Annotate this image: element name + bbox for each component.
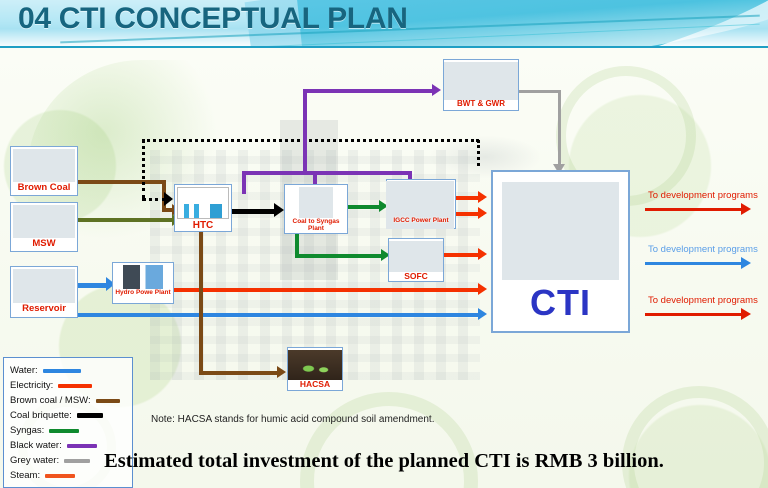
output-line-2 <box>645 262 745 265</box>
legend-item: Water: <box>10 363 132 378</box>
coal-pile-photo <box>13 149 75 182</box>
output-line-1 <box>645 208 745 211</box>
sofc-building-photo <box>389 241 443 272</box>
legend-item: Brown coal / MSW: <box>10 393 132 408</box>
edge-blackwater-main-riser <box>303 90 307 172</box>
node-label: Reservoir <box>11 304 77 314</box>
arrow-head-igcc-cti-1 <box>478 191 487 203</box>
legend-label: Brown coal / MSW: <box>10 395 91 406</box>
syngas-plant-photo <box>299 187 333 218</box>
edge-msw-to-htc <box>78 218 174 222</box>
arrow-head-sofc-cti <box>478 248 487 260</box>
edge-syngas-to-sofc <box>295 254 385 258</box>
legend-swatch-syngas <box>49 429 79 433</box>
legend-label: Syngas: <box>10 425 44 436</box>
edge-htc-to-hacsa <box>199 371 281 375</box>
hydro-plant-icon <box>123 265 163 289</box>
output-label-2: To development programs <box>648 244 758 255</box>
node-msw[interactable]: MSW <box>10 202 78 252</box>
node-label: MSW <box>11 239 77 249</box>
node-label: HACSA <box>288 380 342 389</box>
edge-greywater-drop <box>558 90 561 164</box>
legend-item: Coal briquette: <box>10 408 132 423</box>
arrow-head-hacsa <box>277 366 286 378</box>
node-brown-coal[interactable]: Brown Coal <box>10 146 78 196</box>
arrow-head-briquette <box>164 192 173 206</box>
node-sofc[interactable]: SOFC <box>388 238 444 282</box>
node-bwt-gwr[interactable]: BWT & GWR <box>443 59 519 111</box>
output-arrow-1 <box>741 203 751 215</box>
arrow-head-reservoir-water <box>478 308 487 320</box>
output-line-3 <box>645 313 745 316</box>
slide-canvas: 04 CTI CONCEPTUAL PLAN <box>0 0 768 488</box>
edge-briquette-riser <box>477 140 480 166</box>
output-label-3: To development programs <box>648 295 758 306</box>
node-reservoir[interactable]: Reservoir <box>10 266 78 318</box>
legend-item: Syngas: <box>10 423 132 438</box>
investment-headline: Estimated total investment of the planne… <box>0 450 768 473</box>
legend-swatch-coal-briquette <box>77 413 103 418</box>
edge-brown-coal-to-htc <box>78 180 164 184</box>
node-label: HTC <box>175 221 231 232</box>
water-treatment-pond-photo <box>444 62 518 100</box>
edge-syngas-to-igcc <box>347 205 383 209</box>
edge-blackwater-bus <box>242 171 412 175</box>
node-htc[interactable]: HTC <box>174 184 232 232</box>
reservoir-dam-photo <box>13 269 75 303</box>
arrow-head-igcc-cti-2 <box>478 207 487 219</box>
edge-syngas-to-sofc-drop <box>295 234 299 256</box>
node-label: Brown Coal <box>11 183 77 193</box>
node-coal-to-syngas-plant[interactable]: Coal to Syngas Plant <box>284 184 348 234</box>
seedling-soil-photo <box>288 350 342 380</box>
arrow-head-htc-syngas <box>274 203 284 217</box>
legend-label: Electricity: <box>10 380 53 391</box>
edge-reservoir-water-to-cti <box>78 313 482 317</box>
legend-swatch-water <box>43 369 81 373</box>
edge-hydro-electricity-to-cti <box>172 288 482 292</box>
edge-greywater-out <box>519 90 561 93</box>
legend-label: Water: <box>10 365 38 376</box>
legend-label: Coal briquette: <box>10 410 72 421</box>
node-hydro-power-plant[interactable]: Hydro Powe Plant <box>112 262 174 304</box>
edge-htc-to-hacsa-drop <box>199 232 203 372</box>
edge-blackwater-to-bwt <box>303 89 436 93</box>
output-arrow-3 <box>741 308 751 320</box>
node-hacsa[interactable]: HACSA <box>287 347 343 391</box>
landfill-photo <box>13 205 75 238</box>
node-igcc-power-plant[interactable]: IGCC Power Plant <box>386 179 456 229</box>
legend-swatch-electricity <box>58 384 92 388</box>
edge-htc-to-syngas <box>232 209 278 214</box>
node-label: Coal to Syngas Plant <box>285 219 347 233</box>
node-label: CTI <box>493 284 628 322</box>
page-title: 04 CTI CONCEPTUAL PLAN <box>18 2 408 36</box>
legend-item: Electricity: <box>10 378 132 393</box>
edge-briquette-bus <box>142 139 479 142</box>
arrow-head-hydro-electricity <box>478 283 487 295</box>
header-divider <box>0 46 768 48</box>
edge-briquette-drop <box>142 139 145 199</box>
legend-swatch-black-water <box>67 444 97 448</box>
node-label: BWT & GWR <box>444 100 518 108</box>
node-cti[interactable]: CTI <box>491 170 630 333</box>
legend-swatch-steam <box>45 474 75 478</box>
note-text: Note: HACSA stands for humic acid compou… <box>151 414 434 425</box>
legend-swatch-brown-coal-msw <box>96 399 120 403</box>
node-label: SOFC <box>389 272 443 281</box>
htc-process-chart-icon <box>177 187 229 219</box>
edge-blackwater-htc-riser <box>242 172 246 194</box>
node-label: Hydro Powe Plant <box>113 290 173 297</box>
edge-briquette-into-htc <box>142 198 166 201</box>
output-label-1: To development programs <box>648 190 758 201</box>
cti-industrial-plant-photo <box>502 182 619 280</box>
arrow-head-blackwater-bwt <box>432 84 441 96</box>
node-label: IGCC Power Plant <box>387 218 455 225</box>
output-arrow-2 <box>741 257 751 269</box>
